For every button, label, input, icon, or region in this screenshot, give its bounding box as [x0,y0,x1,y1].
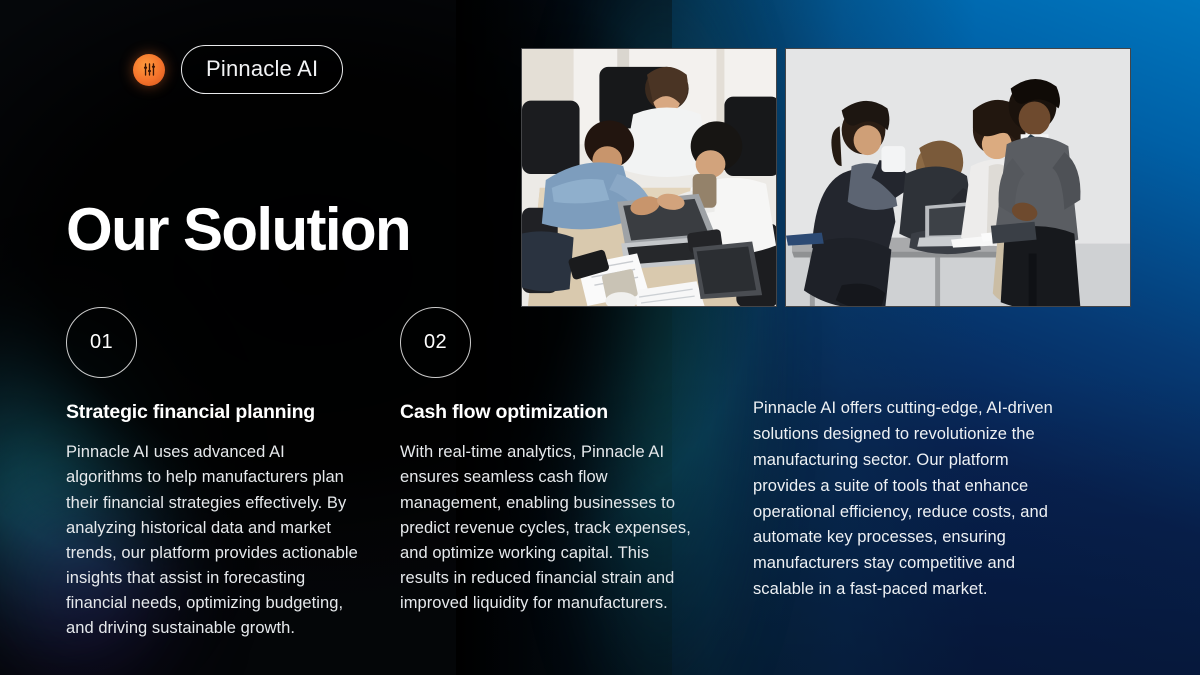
brand-logo[interactable]: Pinnacle AI [133,45,343,94]
summary-body: Pinnacle AI offers cutting-edge, AI-driv… [753,396,1071,603]
feature-heading-02: Cash flow optimization [400,401,700,424]
business-meeting-photo [785,48,1131,307]
slide-root: Pinnacle AI Our Solution [0,0,1200,675]
brand-name: Pinnacle AI [181,45,343,94]
feature-body-01: Pinnacle AI uses advanced AI algorithms … [66,440,366,641]
feature-number-badge-02: 02 [400,307,471,378]
feature-number-badge-01: 01 [66,307,137,378]
page-title: Our Solution [66,199,410,260]
feature-column-2: 02 Cash flow optimization With real-time… [400,307,700,616]
equalizer-sliders-icon [133,54,165,86]
feature-column-1: 01 Strategic financial planning Pinnacle… [66,307,366,641]
team-overhead-desk-photo [521,48,777,307]
summary-column: Pinnacle AI offers cutting-edge, AI-driv… [753,396,1071,603]
feature-body-02: With real-time analytics, Pinnacle AI en… [400,440,700,616]
feature-heading-01: Strategic financial planning [66,401,366,424]
